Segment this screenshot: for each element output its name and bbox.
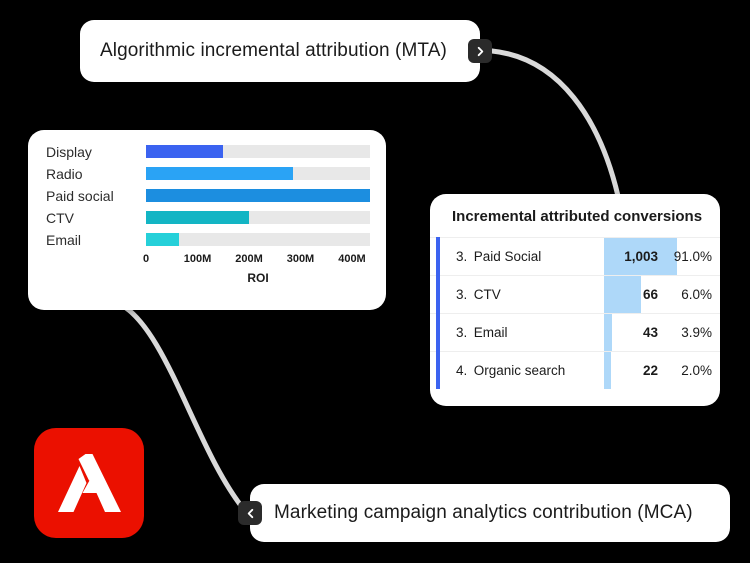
bar-row: CTV xyxy=(46,210,370,225)
bar-track xyxy=(146,211,370,224)
bar-track xyxy=(146,233,370,246)
bar-fill xyxy=(146,145,223,158)
row-value: 66 xyxy=(643,287,658,302)
node-mta-label: Algorithmic incremental attribution (MTA… xyxy=(100,40,447,62)
table-row[interactable]: 3. CTV666.0% xyxy=(430,275,720,313)
row-value: 22 xyxy=(643,363,658,378)
x-axis-title: ROI xyxy=(146,271,370,285)
row-name: 3. Paid Social xyxy=(430,249,541,264)
table-accent-stripe xyxy=(436,237,440,389)
row-name: 4. Organic search xyxy=(430,363,565,378)
table-row[interactable]: 4. Organic search222.0% xyxy=(430,351,720,389)
adobe-a-mark xyxy=(55,452,123,514)
row-label: Organic search xyxy=(470,363,565,378)
bar-fill xyxy=(146,233,179,246)
row-percent: 6.0% xyxy=(664,287,712,302)
row-rank: 3. xyxy=(456,287,470,302)
bar-row: Display xyxy=(46,144,370,159)
diagram-canvas: Algorithmic incremental attribution (MTA… xyxy=(0,0,750,563)
row-bar xyxy=(604,314,612,351)
bar-label: Paid social xyxy=(46,188,146,204)
row-name: 3. Email xyxy=(430,325,508,340)
bar-label: CTV xyxy=(46,210,146,226)
row-percent: 91.0% xyxy=(664,249,712,264)
bar-chart-rows: DisplayRadioPaid socialCTVEmail xyxy=(46,144,370,247)
node-mca[interactable]: Marketing campaign analytics contributio… xyxy=(250,484,730,542)
x-axis-ticks: 0100M200M300M400M xyxy=(146,253,370,269)
bar-label: Email xyxy=(46,232,146,248)
axis-tick: 400M xyxy=(338,253,366,265)
axis-tick: 0 xyxy=(143,253,149,265)
bar-label: Radio xyxy=(46,166,146,182)
row-bar xyxy=(604,276,641,313)
row-rank: 3. xyxy=(456,325,470,340)
axis-tick: 200M xyxy=(235,253,263,265)
conversions-table-card: Incremental attributed conversions 3. Pa… xyxy=(430,194,720,406)
axis-tick: 300M xyxy=(287,253,315,265)
connector-mta-to-table xyxy=(492,51,618,196)
adobe-logo xyxy=(34,428,144,538)
bar-track xyxy=(146,145,370,158)
bar-row: Email xyxy=(46,232,370,247)
axis-tick: 100M xyxy=(184,253,212,265)
bar-fill xyxy=(146,167,293,180)
table-body: 3. Paid Social1,00391.0%3. CTV666.0%3. E… xyxy=(430,237,720,389)
bar-track xyxy=(146,167,370,180)
node-mca-label: Marketing campaign analytics contributio… xyxy=(274,502,693,524)
row-bar xyxy=(604,352,611,389)
bar-fill xyxy=(146,189,370,202)
bar-row: Paid social xyxy=(46,188,370,203)
bar-fill xyxy=(146,211,249,224)
row-value: 1,003 xyxy=(624,249,658,264)
chevron-right-icon[interactable] xyxy=(468,39,492,63)
bar-row: Radio xyxy=(46,166,370,181)
table-title: Incremental attributed conversions xyxy=(430,194,720,237)
chevron-left-icon[interactable] xyxy=(238,501,262,525)
row-label: CTV xyxy=(470,287,501,302)
row-name: 3. CTV xyxy=(430,287,501,302)
row-label: Paid Social xyxy=(470,249,541,264)
row-label: Email xyxy=(470,325,508,340)
bar-label: Display xyxy=(46,144,146,160)
table-row[interactable]: 3. Paid Social1,00391.0% xyxy=(430,237,720,275)
row-rank: 4. xyxy=(456,363,470,378)
row-value: 43 xyxy=(643,325,658,340)
row-percent: 3.9% xyxy=(664,325,712,340)
row-rank: 3. xyxy=(456,249,470,264)
table-row[interactable]: 3. Email433.9% xyxy=(430,313,720,351)
roi-bar-chart-card: DisplayRadioPaid socialCTVEmail 0100M200… xyxy=(28,130,386,310)
node-mta[interactable]: Algorithmic incremental attribution (MTA… xyxy=(80,20,480,82)
row-percent: 2.0% xyxy=(664,363,712,378)
bar-track xyxy=(146,189,370,202)
